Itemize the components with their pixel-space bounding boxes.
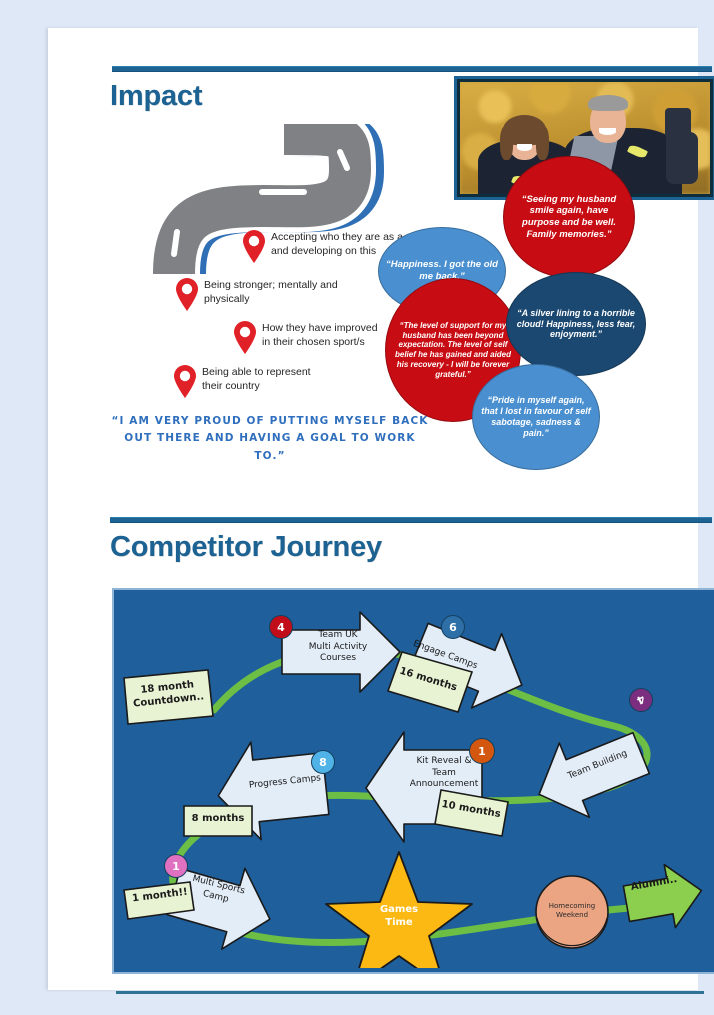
- quote-ellipse-pride: “Pride in myself again, that I lost in f…: [472, 364, 600, 470]
- quote-ellipse-seeing: “Seeing my husband smile again, have pur…: [503, 156, 635, 278]
- map-pin-icon: [241, 228, 267, 264]
- journey-arrow-team-uk: [282, 612, 400, 692]
- journey-note-4-text: 8 months: [186, 813, 250, 826]
- journey-badge-6: 1: [164, 854, 188, 878]
- map-pin-icon: [174, 276, 200, 312]
- page-title-journey: Competitor Journey: [110, 531, 382, 564]
- bottom-rule: [116, 991, 704, 994]
- photo-person-right-hair: [588, 95, 628, 111]
- impact-pin-4-label: Being able to represent their country: [202, 365, 327, 393]
- quote-ellipse-silver-lining-text: “A silver lining to a horrible cloud! Ha…: [513, 308, 639, 341]
- page-title-impact: Impact: [110, 80, 202, 113]
- journey-badge-2: 6: [441, 615, 465, 639]
- impact-pin-3-label: How they have improved in their chosen s…: [262, 321, 387, 349]
- quote-ellipse-pride-text: “Pride in myself again, that I lost in f…: [479, 395, 593, 439]
- journey-homecoming-label: Homecoming Weekend: [540, 902, 604, 920]
- impact-handwritten-quote: “I AM VERY PROUD OF PUTTING MYSELF BACK …: [110, 413, 430, 465]
- journey-badge-4: 1: [469, 738, 495, 764]
- photo-right-arm: [666, 132, 698, 184]
- journey-arrow-alumni: [621, 859, 707, 935]
- journey-badge-5: 8: [311, 750, 335, 774]
- competitor-journey-board: Team UK Multi Activity Courses Engage Ca…: [112, 588, 714, 974]
- photo-person-left-smile: [517, 144, 532, 151]
- page-card: Impact: [48, 28, 698, 990]
- impact-pin-2-label: Being stronger; mentally and physically: [204, 278, 344, 306]
- journey-top-rule: [110, 517, 712, 523]
- quote-ellipse-seeing-text: “Seeing my husband smile again, have pur…: [510, 194, 628, 240]
- photo-person-left-hair-side2: [536, 126, 549, 160]
- journey-badge-1: 4: [269, 615, 293, 639]
- photo-person-left-hair-side: [500, 126, 513, 160]
- map-pin-icon: [172, 363, 198, 399]
- journey-star-label: Games Time: [361, 903, 437, 929]
- map-pin-icon: [232, 319, 258, 355]
- quote-ellipse-silver-lining: “A silver lining to a horrible cloud! Ha…: [506, 272, 646, 376]
- impact-top-rule: [112, 66, 712, 72]
- photo-person-right-smile: [599, 128, 616, 135]
- quote-ellipse-support-text: “The level of support for my husband has…: [392, 321, 514, 380]
